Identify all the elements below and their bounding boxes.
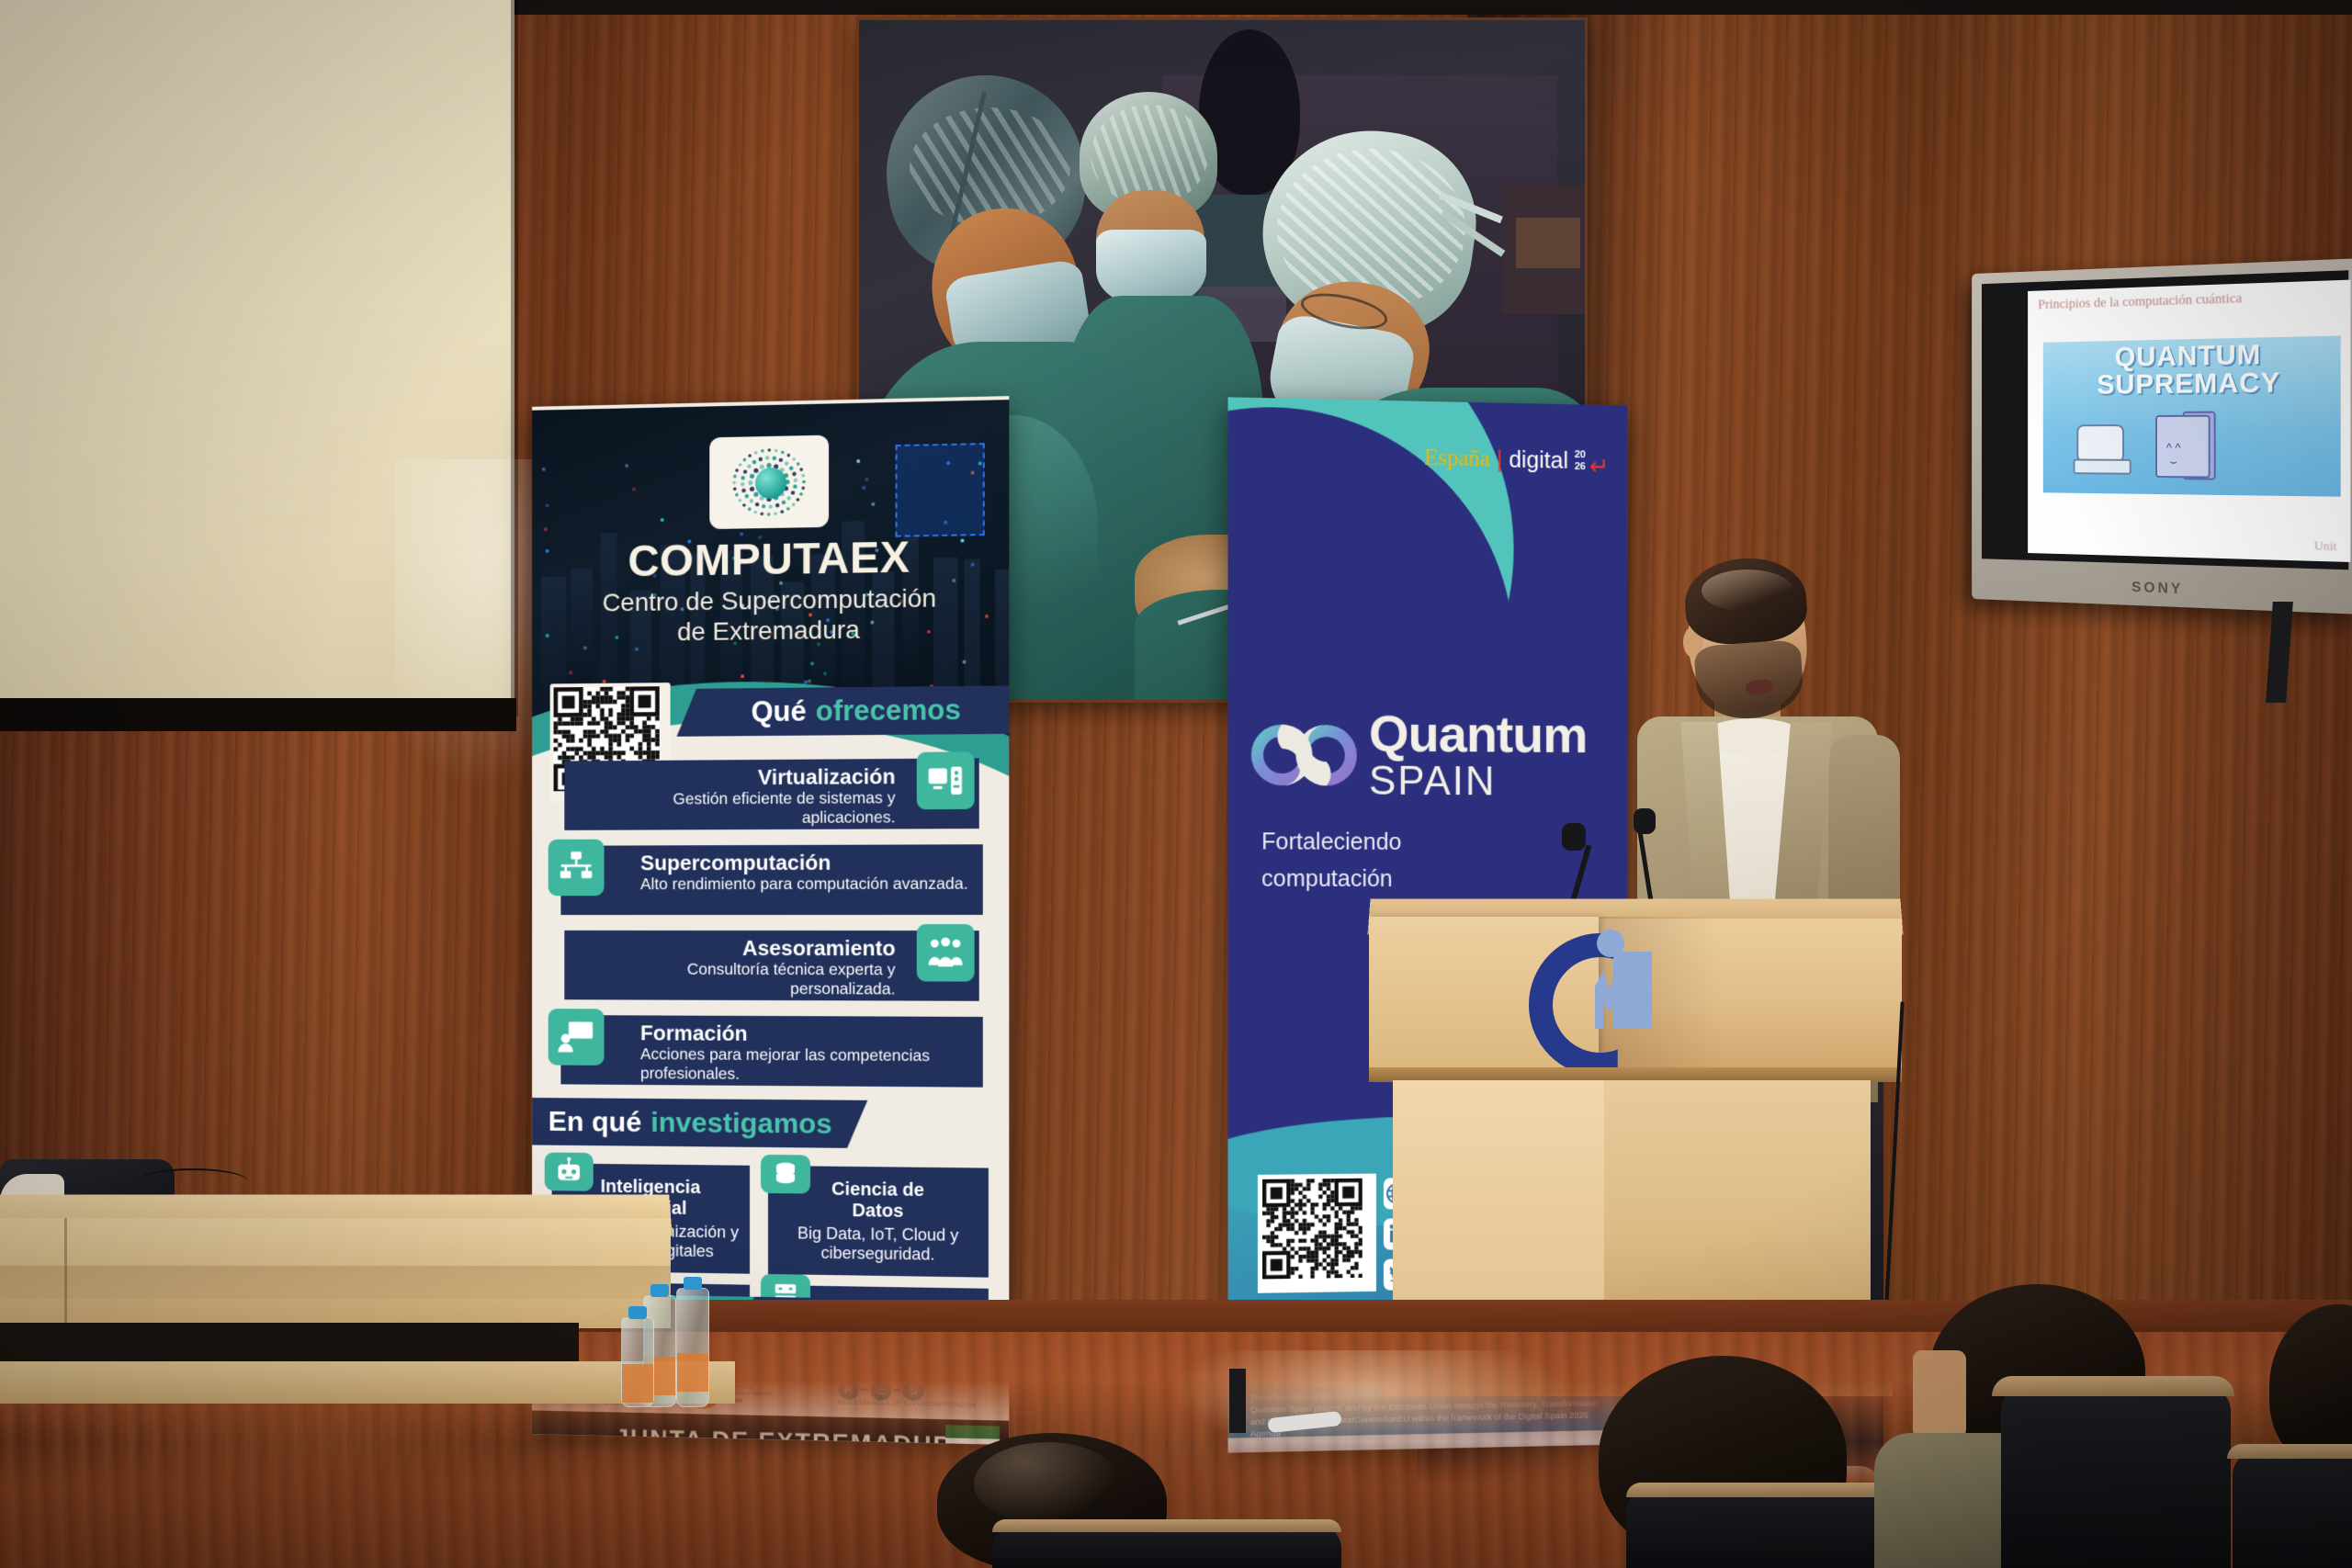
offer-title-4: Formación <box>640 1021 983 1046</box>
section-header-research: En qué investigamos <box>532 1098 867 1148</box>
people-group-icon <box>917 924 975 982</box>
projection-screen-edge <box>511 0 518 716</box>
microphone-head-left <box>1562 823 1586 851</box>
hero-led <box>865 478 869 481</box>
offer-row-supercomputacion: Supercomputación Alto rendimiento para c… <box>560 844 982 915</box>
cim-logo <box>1529 926 1667 1045</box>
hero-led <box>542 467 546 470</box>
computaex-subtitle: Centro de Supercomputación de Extremadur… <box>532 581 1009 649</box>
section-offer-prefix: Qué <box>751 695 806 729</box>
speaker-forehead-highlight <box>1702 570 1793 612</box>
bottle-cap-1 <box>650 1284 669 1297</box>
slide-title: Principios de la computación cuántica <box>2038 286 2345 315</box>
section-research-highlight: investigamos <box>650 1106 831 1141</box>
database-icon <box>761 1155 810 1194</box>
hero-led <box>862 486 865 490</box>
hero-led <box>962 660 966 664</box>
espana-digital-separator: | <box>1497 446 1502 473</box>
quantum-infinity-icon <box>1250 712 1360 797</box>
painting-right-cabinet-inner <box>1516 218 1580 268</box>
hero-led <box>741 674 744 678</box>
hero-led <box>625 464 628 468</box>
cartoon-face: ^ ^ ⌣ <box>2166 441 2181 469</box>
wall-monitor: Principios de la computación cuántica QU… <box>1972 258 2352 615</box>
conference-room-photo: COMPUTAEX Centro de Supercomputación de … <box>0 0 2352 1568</box>
espana-digital-word1: España <box>1424 446 1490 472</box>
bottle-label-3 <box>622 1364 653 1403</box>
computaex-hero-blue-box <box>896 443 985 537</box>
offer-title-1: Virtualización <box>594 764 896 790</box>
hero-led <box>823 671 827 675</box>
computaex-title: COMPUTAEX <box>532 531 1009 589</box>
audience-chair-3 <box>2001 1387 2231 1568</box>
quantum-spain-brand-line2: SPAIN <box>1369 760 1587 805</box>
bottle-cap-3 <box>628 1306 647 1319</box>
offer-title-2: Supercomputación <box>640 850 972 874</box>
section-research-prefix: En qué <box>548 1105 642 1139</box>
hero-led <box>544 527 548 531</box>
network-nodes-icon <box>548 840 605 897</box>
espana-digital-word2: digital <box>1509 447 1568 475</box>
cartoon-old-computer-icon <box>2074 424 2131 472</box>
computaex-subtitle-line2: de Extremadura <box>532 613 1009 649</box>
front-table-recess <box>0 1323 579 1365</box>
audience-chair-3-rim <box>1992 1376 2234 1396</box>
quantum-spain-qr-code[interactable] <box>1258 1174 1376 1293</box>
front-table-seam <box>64 1218 67 1328</box>
research-title-2b: Datos <box>775 1200 981 1224</box>
quantum-spain-tagline-line2: computación <box>1261 861 1592 898</box>
monitor-server-icon <box>917 751 975 809</box>
offer-desc-1: Gestión eficiente de sistemas y aplicaci… <box>594 788 896 829</box>
espana-digital-logo: España | digital 20 26 ↵ <box>1424 446 1609 481</box>
audience-head-1-sheen <box>974 1442 1121 1525</box>
projection-screen <box>0 0 514 712</box>
front-table-shadow-band <box>0 1266 671 1299</box>
hero-led <box>808 679 811 682</box>
quantum-spain-brand-line1: Quantum <box>1369 707 1587 761</box>
section-offer-highlight: ofrecemos <box>816 694 961 728</box>
water-bottle-3 <box>621 1317 654 1407</box>
audience-chair-4 <box>2233 1451 2352 1568</box>
quantum-spain-tagline: Fortaleciendo computación <box>1261 823 1592 897</box>
audience-chair-4-rim <box>2227 1444 2352 1459</box>
cartoon-quantum-computer-icon: ^ ^ ⌣ <box>2155 415 2211 479</box>
quantum-spain-logo <box>1250 712 1360 797</box>
research-desc-2: Big Data, IoT, Cloud y ciberseguridad. <box>775 1224 981 1265</box>
espana-digital-year-bottom: 26 <box>1575 462 1586 472</box>
hero-led <box>632 488 636 491</box>
bottle-label-2 <box>677 1353 708 1392</box>
water-bottle-2 <box>676 1288 709 1407</box>
monitor-slide: Principios de la computación cuántica QU… <box>2028 280 2350 562</box>
microphone-head-right <box>1634 808 1656 834</box>
robot-icon <box>545 1153 594 1191</box>
offer-row-formacion: Formación Acciones para mejorar las comp… <box>560 1015 982 1088</box>
quantum-spain-tagline-line1: Fortaleciendo <box>1261 823 1592 861</box>
offer-desc-3: Consultoría técnica experta y personaliz… <box>594 960 896 999</box>
offer-desc-4: Acciones para mejorar las competencias p… <box>640 1044 983 1085</box>
teacher-board-icon <box>548 1009 605 1066</box>
audience-chair-1-rim <box>992 1519 1341 1532</box>
offer-desc-2: Alto rendimiento para computación avanza… <box>640 874 972 895</box>
slide-image: QUANTUM SUPREMACY ^ ^ ⌣ <box>2043 335 2341 496</box>
section-header-offer: Qué ofrecemos <box>677 685 1010 736</box>
monitor-brand: SONY <box>1972 574 2352 604</box>
hero-led <box>856 459 860 463</box>
espana-digital-arrow-icon: ↵ <box>1589 452 1609 480</box>
projection-screen-bottom-bar <box>0 698 516 731</box>
audience-neck-3 <box>1913 1350 1966 1438</box>
hero-led <box>871 502 875 506</box>
monitor-bezel-inner: Principios de la computación cuántica QU… <box>1982 270 2348 570</box>
bottle-cap-2 <box>684 1277 702 1290</box>
hero-led <box>660 518 663 522</box>
espana-digital-year-top: 20 <box>1575 450 1586 460</box>
slide-image-caption: QUANTUM SUPREMACY <box>2043 340 2341 400</box>
banner-base-foot <box>1229 1369 1246 1433</box>
hero-led <box>546 503 549 507</box>
quantum-spain-brand: Quantum SPAIN <box>1369 707 1587 804</box>
offer-title-3: Asesoramiento <box>594 936 896 960</box>
cim-logo-m-mark <box>1595 970 1623 1029</box>
table-cable <box>138 1168 248 1194</box>
slide-footer: Unit <box>2038 532 2336 554</box>
